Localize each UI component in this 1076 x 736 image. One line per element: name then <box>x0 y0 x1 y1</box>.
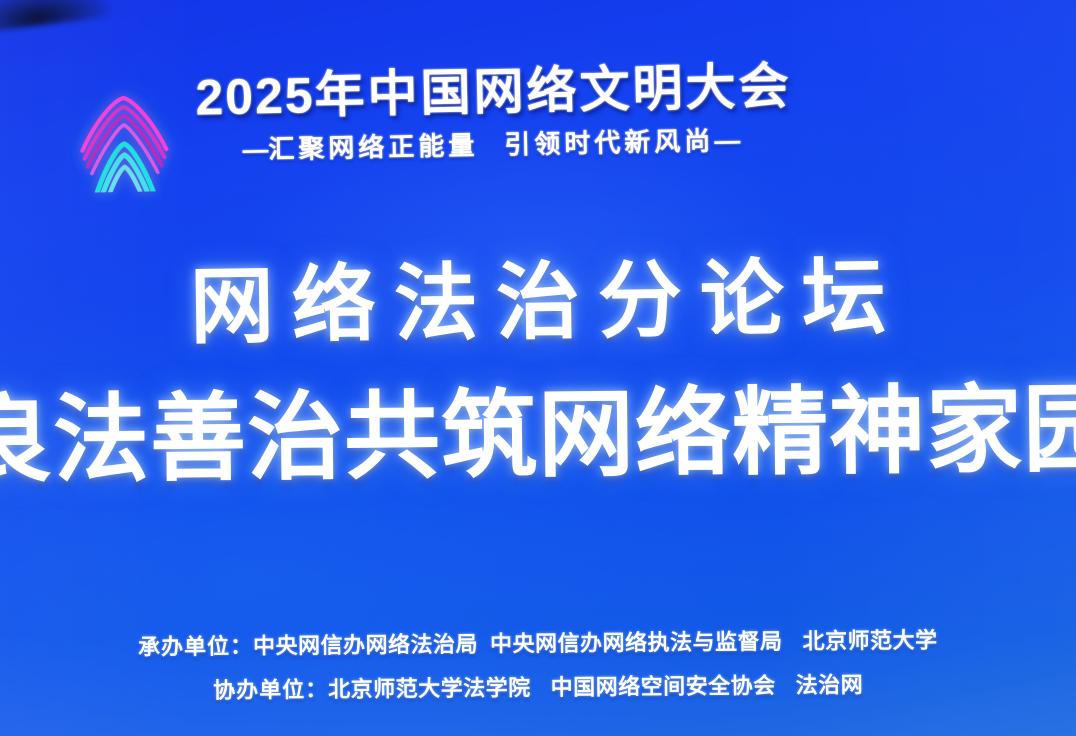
co-host-units-line: 协办单位：北京师范大学法学院中国网络空间安全协会法治网 <box>0 661 1076 714</box>
co-host-unit-2: 中国网络空间安全协会 <box>551 673 776 700</box>
host-units-label: 承办单位： <box>138 633 253 659</box>
credits-block: 承办单位：中央网信办网络法治局中央网信办网络执法与监督局北京师范大学 协办单位：… <box>0 617 1076 714</box>
co-host-units-label: 协办单位： <box>213 677 328 703</box>
forum-title: 网络法治分论坛 <box>0 244 1076 359</box>
forum-slogan: 良法善治共筑网络精神家园 <box>0 372 1076 500</box>
corner-shadow-artifact <box>0 0 112 31</box>
conference-year: 2025 <box>195 67 315 125</box>
co-host-unit-1: 北京师范大学法学院 <box>328 675 531 702</box>
subtitle-dash-right: — <box>714 125 741 155</box>
conference-backdrop-screen: 2025年中国网络文明大会 —汇聚网络正能量引领时代新风尚— 网络法治分论坛 良… <box>0 0 1076 736</box>
subtitle-dash-left: — <box>242 134 269 164</box>
co-host-unit-3: 法治网 <box>796 672 864 698</box>
host-units-line: 承办单位：中央网信办网络法治局中央网信办网络执法与监督局北京师范大学 <box>0 617 1076 670</box>
subtitle-part-2: 引领时代新风尚 <box>504 126 715 160</box>
conference-subtitle: —汇聚网络正能量引领时代新风尚— <box>196 119 996 166</box>
conference-title-rest: 年中国网络文明大会 <box>314 58 792 123</box>
conference-logo-icon <box>67 87 181 193</box>
host-unit-2: 中央网信办网络执法与监督局 <box>490 629 783 657</box>
conference-header-lockup: 2025年中国网络文明大会 —汇聚网络正能量引领时代新风尚— <box>0 52 1076 201</box>
conference-title: 2025年中国网络文明大会 <box>195 53 996 126</box>
subtitle-part-1: 汇聚网络正能量 <box>268 130 479 164</box>
host-unit-3: 北京师范大学 <box>802 628 937 654</box>
conference-title-block: 2025年中国网络文明大会 —汇聚网络正能量引领时代新风尚— <box>195 53 997 166</box>
host-unit-1: 中央网信办网络法治局 <box>253 632 478 659</box>
